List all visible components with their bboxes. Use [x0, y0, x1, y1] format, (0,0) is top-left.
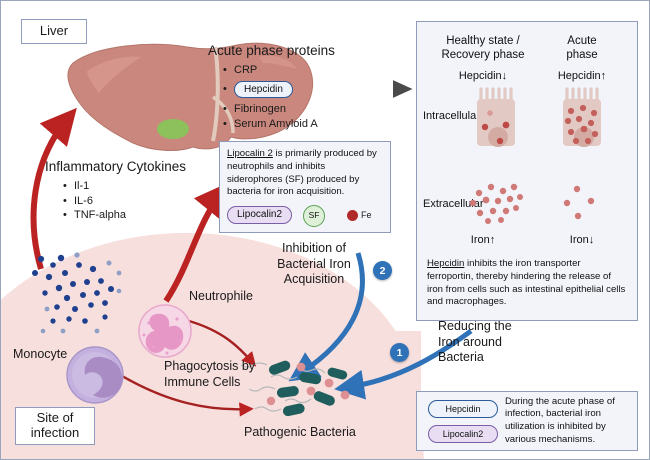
- column-title-healthy-l2: Recovery phase: [435, 48, 531, 62]
- legend-pill-hepcidin[interactable]: Hepcidin: [428, 400, 498, 418]
- lipocalin-panel-text-underlined: Lipocalin 2: [227, 148, 273, 159]
- step-badge-2[interactable]: 2: [373, 261, 392, 280]
- reducing-caption-l1: Reducing the: [438, 319, 512, 335]
- site-of-infection-label: Site of infection: [15, 407, 95, 445]
- reducing-iron-caption: Reducing the Iron around Bacteria: [438, 319, 512, 366]
- inhibition-caption-l2: Bacterial Iron: [259, 257, 369, 273]
- inflammatory-cytokines-title: Inflammatory Cytokines: [45, 159, 186, 174]
- pathogenic-bacteria-label: Pathogenic Bacteria: [244, 425, 356, 439]
- inhibition-caption-l3: Acquisition: [259, 272, 369, 288]
- phagocytosis-label-l1: Phagocytosis by: [164, 359, 255, 375]
- phagocytosis-label: Phagocytosis by Immune Cells: [164, 359, 255, 391]
- neutrophile-label: Neutrophile: [189, 289, 253, 303]
- reducing-caption-l3: Bacteria: [438, 350, 512, 366]
- legend-pill-column: Hepcidin Lipocalin2: [425, 400, 501, 443]
- row-label-intracellular: Intracellular: [423, 110, 480, 122]
- site-of-infection-line1: Site of: [20, 411, 90, 426]
- inhibition-caption-l1: Inhibition of: [259, 241, 369, 257]
- lipocalin-panel-text: Lipocalin 2 is primarily produced by neu…: [227, 148, 383, 199]
- legend-pill-lipocalin2[interactable]: Lipocalin2: [428, 425, 498, 443]
- iron-level-healthy: Iron↑: [435, 234, 531, 246]
- fe-dot-icon: [347, 210, 358, 221]
- row-label-extracellular: Extracellular: [423, 198, 484, 210]
- column-title-acute-l1: Acute: [541, 34, 623, 48]
- app-item-2: Fibrinogen: [234, 103, 286, 115]
- hepcidin-level-acute: Hepcidin↑: [541, 70, 623, 82]
- phagocytosis-label-l2: Immune Cells: [164, 375, 255, 391]
- inflammatory-cytokines-list: •Il-1 •IL-6 •TNF-alpha: [63, 179, 126, 223]
- column-title-acute: Acute phase: [541, 34, 623, 62]
- cytokine-item-1: IL-6: [74, 195, 93, 207]
- reducing-caption-l2: Iron around: [438, 335, 512, 351]
- fe-label: Fe: [361, 210, 372, 220]
- hepcidin-mechanism-panel: Healthy state / Recovery phase Acute pha…: [416, 21, 638, 321]
- step-badge-1[interactable]: 1: [390, 343, 409, 362]
- legend-panel-text: During the acute phase of infection, bac…: [501, 396, 629, 447]
- lipocalin2-pill-diagram[interactable]: Lipocalin2: [227, 206, 292, 224]
- inhibition-caption: Inhibition of Bacterial Iron Acquisition: [259, 241, 369, 288]
- acute-phase-proteins-list: •CRP •Hepcidin •Fibrinogen •Serum Amyloi…: [223, 63, 318, 131]
- cytokine-item-0: Il-1: [74, 180, 89, 192]
- hepcidin-panel-note-underlined: Hepcidin: [427, 258, 464, 269]
- liver-label: Liver: [21, 19, 87, 44]
- hepcidin-panel-note: Hepcidin inhibits the iron transporter f…: [427, 258, 629, 309]
- column-title-healthy: Healthy state / Recovery phase: [435, 34, 531, 62]
- hepcidin-level-healthy: Hepcidin↓: [435, 70, 531, 82]
- cytokine-item-2: TNF-alpha: [74, 209, 126, 221]
- app-item-3: Serum Amyloid A: [234, 118, 318, 130]
- iron-level-acute: Iron↓: [541, 234, 623, 246]
- monocyte-label: Monocyte: [13, 347, 67, 361]
- column-title-acute-l2: phase: [541, 48, 623, 62]
- figure-canvas: Liver Site of infection Inflammatory Cyt…: [0, 0, 650, 460]
- legend-panel: Hepcidin Lipocalin2 During the acute pha…: [416, 391, 638, 451]
- acute-phase-proteins-title: Acute phase proteins: [208, 43, 335, 58]
- app-item-0: CRP: [234, 64, 257, 76]
- site-of-infection-line2: infection: [20, 426, 90, 441]
- hepcidin-pill-app[interactable]: Hepcidin: [234, 81, 293, 99]
- column-title-healthy-l1: Healthy state /: [435, 34, 531, 48]
- siderophore-node: SF: [303, 205, 325, 227]
